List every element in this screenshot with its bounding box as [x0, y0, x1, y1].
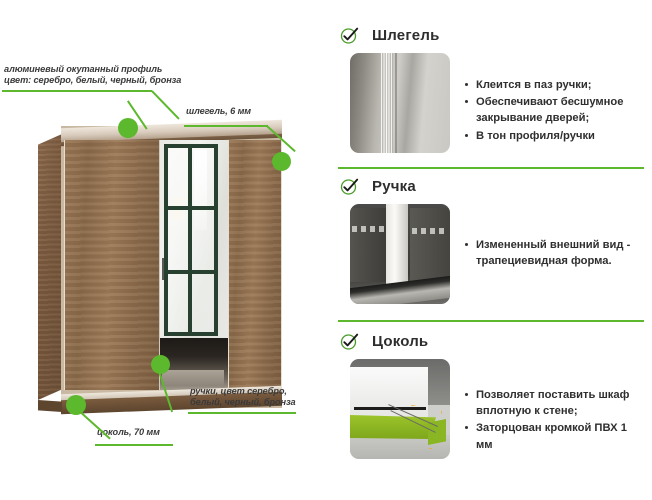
section-divider-2 [338, 320, 644, 322]
mirror-highlight [194, 150, 207, 230]
mirror-frame-mullion [188, 144, 192, 336]
feature-title-tsokol: Цоколь [372, 333, 428, 350]
mirror-frame-rail-2 [164, 270, 218, 274]
callout-profile-text: алюминевый окутанный профиль цвет: сереб… [4, 64, 181, 86]
mirror-floor-reflection [160, 338, 229, 390]
callout-plinth-underline [95, 444, 173, 446]
mirror-rug-reflection [162, 370, 224, 386]
feature-title-shlegel: Шлегель [372, 27, 440, 44]
mirror-frame-right [214, 144, 218, 336]
mirror-frame-left [164, 144, 168, 336]
wardrobe-door-right [228, 140, 282, 390]
callout-shlegel-text: шлегель, 6 мм [186, 106, 251, 117]
bullet-item: Позволяет поставить шкаф вплотную к стен… [476, 387, 646, 419]
mirror-door-handle [162, 258, 164, 280]
feature-header-shlegel: Шлегель [330, 22, 652, 48]
callout-shlegel-line-1: шлегель, 6 мм [186, 106, 251, 117]
feature-body-tsokol: Позволяет поставить шкаф вплотную к стен… [330, 359, 652, 459]
feature-photo-shlegel [350, 53, 450, 153]
bullet-item: Обеспечивают бесшумное закрывание дверей… [476, 94, 646, 126]
callout-plinth-dot [66, 395, 86, 415]
feature-header-ruchka: Ручка [330, 173, 652, 199]
handle-photo-right-slats [412, 228, 448, 234]
callout-handles-line-1: ручки, цвет серебро, [190, 386, 296, 397]
feature-section-ruchka: Ручка Измененный внешний вид - трапециев… [330, 173, 652, 304]
feature-body-ruchka: Измененный внешний вид - трапециевидная … [330, 204, 652, 304]
handle-photo-left-door [350, 208, 388, 282]
section-divider-1 [338, 167, 644, 169]
feature-header-tsokol: Цоколь [330, 328, 652, 354]
feature-photo-tsokol [350, 359, 450, 459]
product-illustration-panel: алюминевый окутанный профиль цвет: сереб… [0, 0, 330, 500]
handle-photo-profile [386, 204, 408, 288]
bullet-item: Клеится в паз ручки; [476, 77, 646, 93]
callout-handles-text: ручки, цвет серебро, белый, черный, брон… [190, 386, 296, 408]
feature-section-tsokol: Цоколь Позволяет поставить шкаф вплотную… [330, 328, 652, 459]
feature-bullets-ruchka: Измененный внешний вид - трапециевидная … [450, 237, 652, 270]
check-circle-icon [340, 26, 359, 45]
infographic-page: алюминевый окутанный профиль цвет: сереб… [0, 0, 652, 500]
feature-photo-ruchka [350, 204, 450, 304]
callout-profile-underline [2, 90, 152, 92]
features-panel: Шлегель Клеится в паз ручки; Обеспечиваю… [330, 0, 652, 500]
callout-profile-line-2: цвет: серебро, белый, черный, бронза [4, 75, 181, 86]
feature-bullets-shlegel: Клеится в паз ручки; Обеспечивают бесшум… [450, 77, 652, 145]
feature-bullets-tsokol: Позволяет поставить шкаф вплотную к стен… [450, 387, 652, 454]
feature-title-ruchka: Ручка [372, 178, 416, 195]
bullet-item: В тон профиля/ручки [476, 128, 646, 144]
callout-shlegel-dot [272, 152, 291, 171]
feature-section-shlegel: Шлегель Клеится в паз ручки; Обеспечиваю… [330, 22, 652, 153]
cabinet-plinth-side [38, 400, 62, 412]
callout-handles-dot [151, 355, 170, 374]
bullet-item: Заторцован кромкой ПВХ 1 мм [476, 420, 646, 452]
callout-profile-line-1: алюминевый окутанный профиль [4, 64, 181, 75]
callout-profile-dot [118, 118, 138, 138]
wardrobe-door-left [64, 140, 160, 390]
cabinet-side-panel [38, 134, 62, 400]
handle-photo-left-slats [352, 226, 386, 232]
check-circle-icon [340, 332, 359, 351]
check-circle-icon [340, 177, 359, 196]
callout-shlegel-underline [184, 125, 268, 127]
handle-photo-right-door [410, 208, 450, 282]
callout-profile-leader [151, 90, 179, 119]
callout-handles-line-2: белый, черный, бронза [190, 397, 296, 408]
wardrobe-mirror-panel [159, 140, 229, 390]
feature-body-shlegel: Клеится в паз ручки; Обеспечивают бесшум… [330, 53, 652, 153]
shlegel-brush-strip [381, 53, 393, 153]
bullet-item: Измененный внешний вид - трапециевидная … [476, 237, 646, 269]
mirror-frame-rail-1 [164, 206, 218, 210]
callout-handles-underline [188, 412, 296, 414]
shlegel-profile-edge [395, 53, 397, 153]
